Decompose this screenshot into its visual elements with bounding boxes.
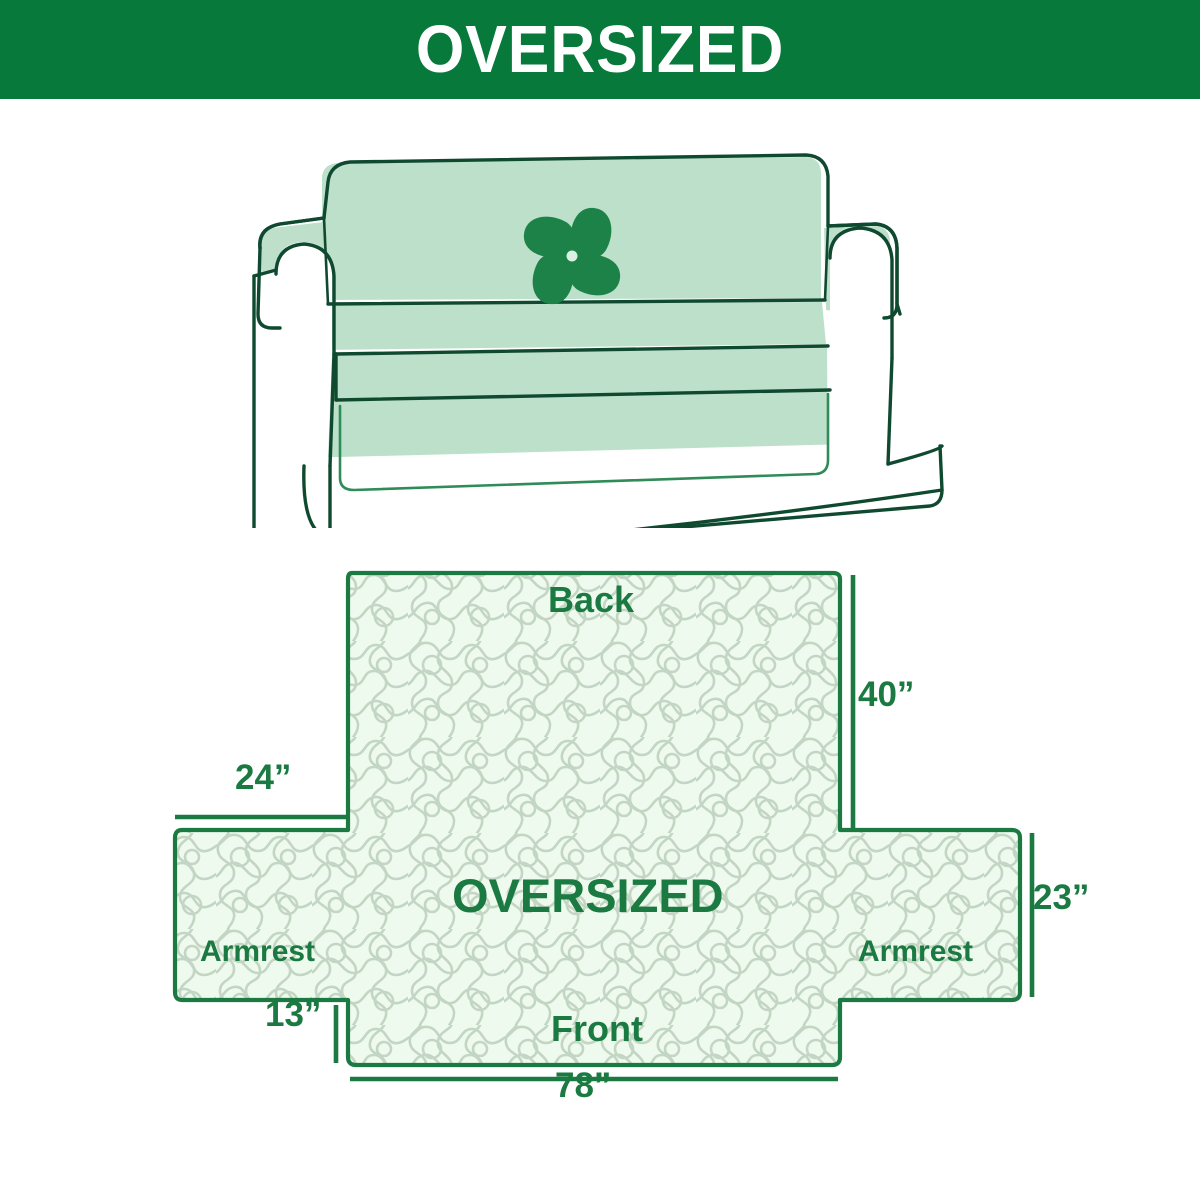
dimension-label-armrest-width: 24” xyxy=(235,760,291,795)
dimension-label-total-width: 78” xyxy=(555,1068,611,1103)
panel-label-armrest-right: Armrest xyxy=(858,937,973,967)
panel-label-back: Back xyxy=(548,582,634,618)
dimension-label-front-height: 13” xyxy=(265,997,321,1032)
sofa-illustration xyxy=(240,128,980,528)
flat-pattern-diagram: Back Front Armrest Armrest OVERSIZED 40”… xyxy=(120,545,1120,1145)
sofa-line-drawing xyxy=(240,128,980,528)
panel-label-front: Front xyxy=(551,1011,643,1047)
slipcover-fill-group xyxy=(258,157,890,494)
pattern-size-label: OVERSIZED xyxy=(452,872,724,919)
header-banner: OVERSIZED xyxy=(0,0,1200,99)
dimension-label-back-height: 40” xyxy=(858,677,914,712)
dimension-label-armrest-height: 23” xyxy=(1033,880,1089,915)
panel-label-armrest-left: Armrest xyxy=(200,937,315,967)
pattern-cross-shape xyxy=(120,545,1120,1145)
page-title: OVERSIZED xyxy=(416,16,784,83)
